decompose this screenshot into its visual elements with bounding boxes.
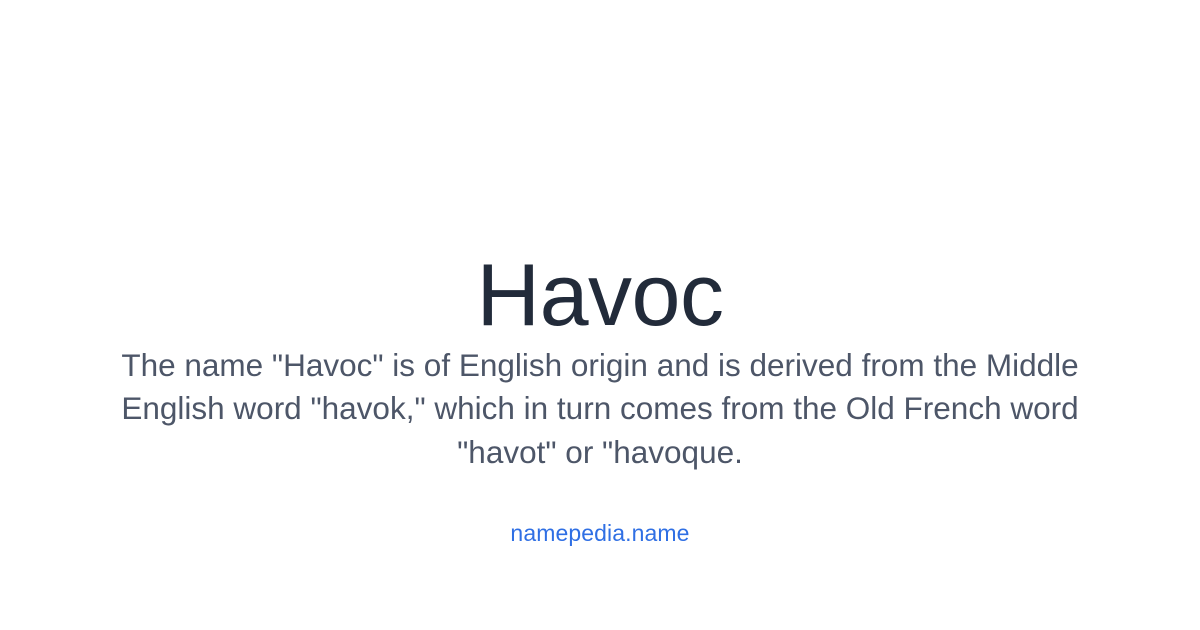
name-description: The name "Havoc" is of English origin an… [100,344,1100,475]
page-title: Havoc [0,251,1200,339]
name-meaning-card: Havoc The name "Havoc" is of English ori… [0,0,1200,630]
site-link[interactable]: namepedia.name [510,520,689,546]
footer: namepedia.name [0,519,1200,547]
